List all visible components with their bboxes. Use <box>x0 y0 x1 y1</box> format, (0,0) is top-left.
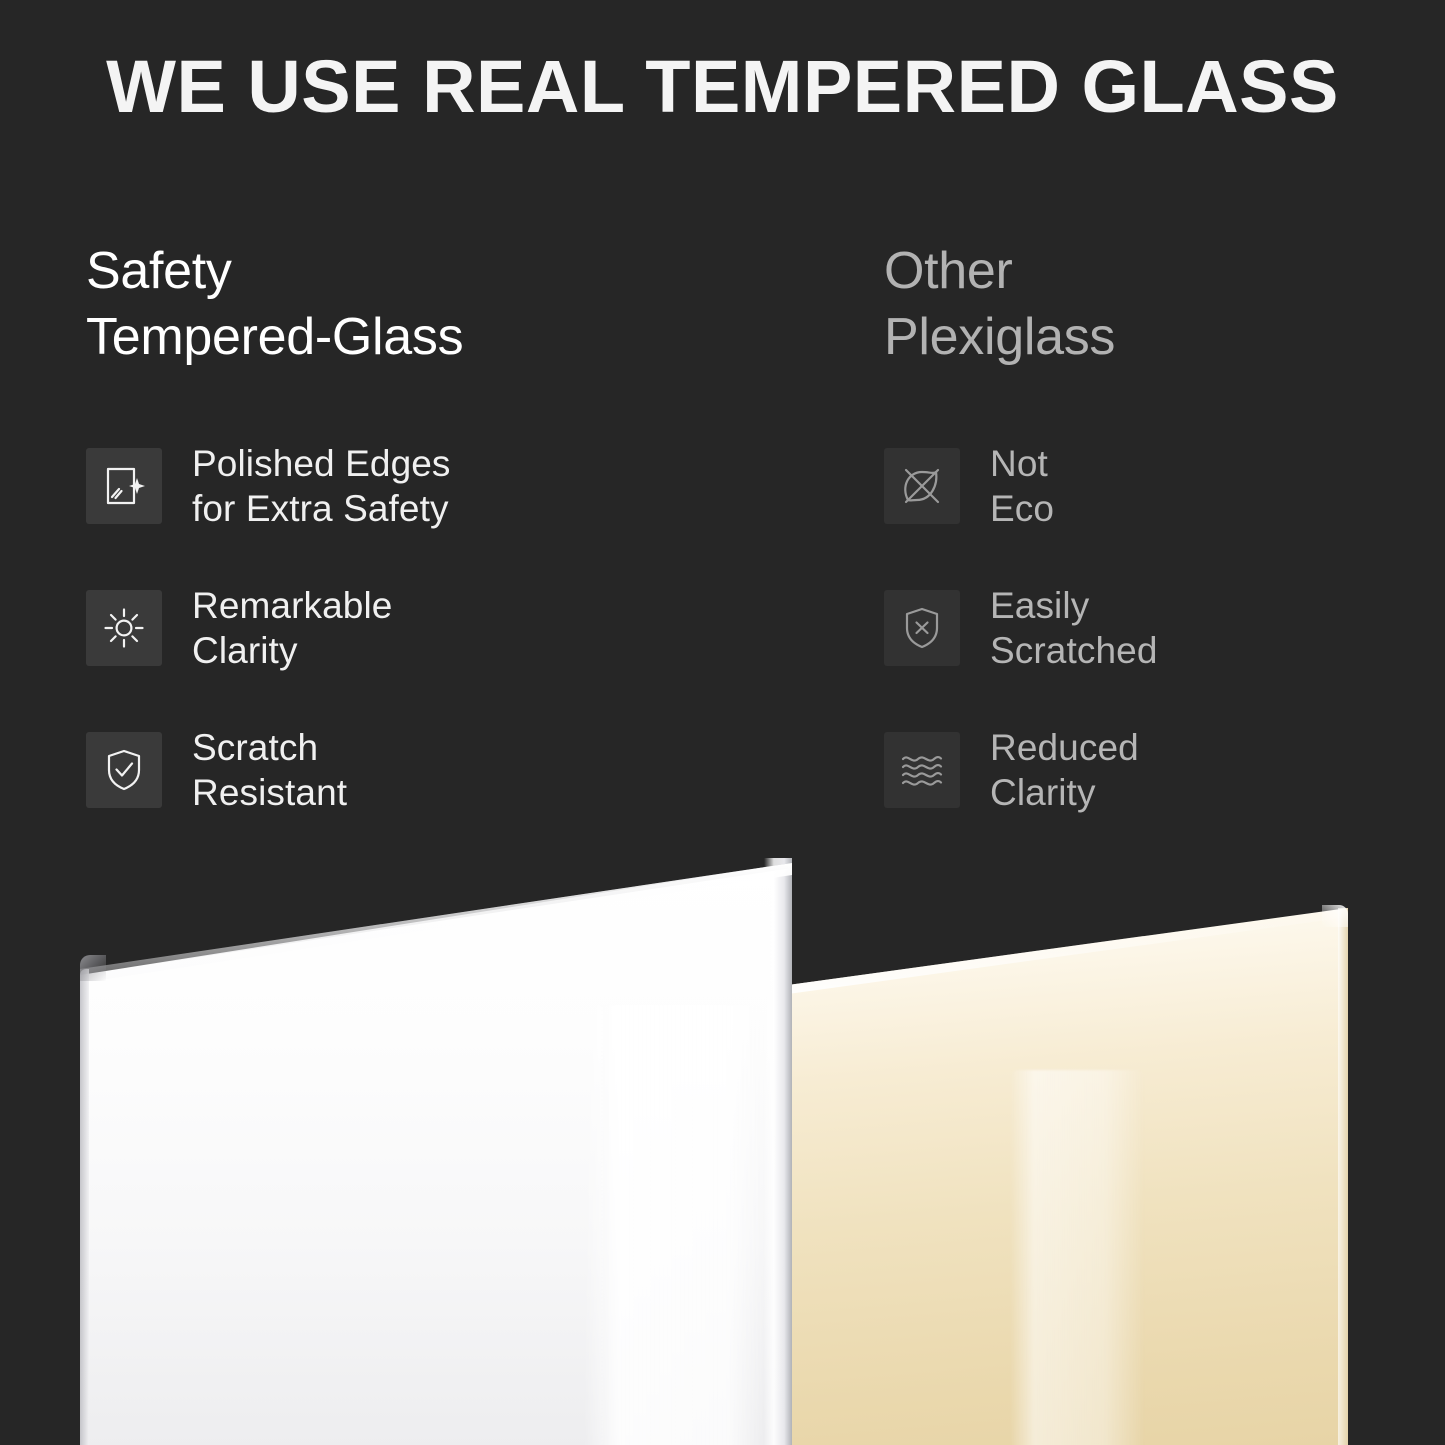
feature-row-easily-scratched: Easily Scratched <box>884 590 1158 666</box>
column-safety-tempered-glass: Safety Tempered-Glass Polished Edges for… <box>86 238 786 370</box>
feature-list-right: Not Eco Easily Scratched <box>884 448 1158 808</box>
leaf-slashed-icon <box>884 448 960 524</box>
polished-glass-pane-icon <box>86 448 162 524</box>
shield-x-icon <box>884 590 960 666</box>
feature-label-reduced-clarity: Reduced Clarity <box>990 725 1139 815</box>
product-photo <box>0 845 1445 1445</box>
feature-label-scratch-resistant: Scratch Resistant <box>192 725 347 815</box>
sun-brightness-icon <box>86 590 162 666</box>
feature-row-scratch-resistant: Scratch Resistant <box>86 732 451 808</box>
column-other-plexiglass: Other Plexiglass Not Eco <box>884 238 1404 370</box>
feature-label-remarkable-clarity: Remarkable Clarity <box>192 583 392 673</box>
shield-check-icon <box>86 732 162 808</box>
feature-label-not-eco: Not Eco <box>990 441 1054 531</box>
feature-row-reduced-clarity: Reduced Clarity <box>884 732 1158 808</box>
tempered-glass-panel-right-edge <box>764 858 792 1445</box>
feature-row-not-eco: Not Eco <box>884 448 1158 524</box>
feature-list-left: Polished Edges for Extra Safety <box>86 448 451 808</box>
tempered-glass-panel-reflection <box>583 1005 765 1445</box>
feature-row-remarkable-clarity: Remarkable Clarity <box>86 590 451 666</box>
column-title-left: Safety Tempered-Glass <box>86 238 786 370</box>
comparison-infographic: WE USE REAL TEMPERED GLASS Safety Temper… <box>0 0 1445 1445</box>
plexiglass-panel-corner <box>1322 905 1348 927</box>
plexiglass-panel-reflection <box>1010 1070 1145 1445</box>
tempered-glass-panel-corner <box>80 955 106 981</box>
feature-label-polished-edges: Polished Edges for Extra Safety <box>192 441 451 531</box>
feature-label-easily-scratched: Easily Scratched <box>990 583 1158 673</box>
feature-row-polished-edges: Polished Edges for Extra Safety <box>86 448 451 524</box>
wavy-lines-icon <box>884 732 960 808</box>
plexiglass-panel-right-edge <box>1338 908 1348 1445</box>
tempered-glass-panel-left-edge <box>80 969 89 1445</box>
column-title-right: Other Plexiglass <box>884 238 1404 370</box>
page-title: WE USE REAL TEMPERED GLASS <box>0 44 1445 130</box>
